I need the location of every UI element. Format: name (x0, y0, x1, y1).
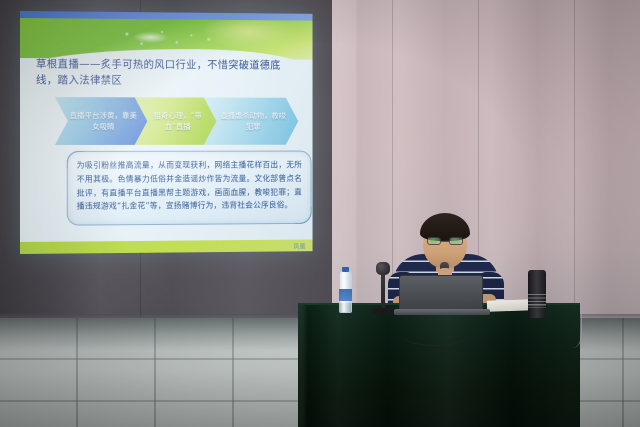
thermos-speaker (528, 270, 546, 318)
slide-title: 草根直播——炙手可热的风口行业，不惜突破道德底线，踏入法律禁区 (36, 56, 299, 89)
chevron-step-2-label: 猎奇心理，“带血”直播 (148, 110, 206, 132)
chevron-step-1-label: 直播平台涉黄，靠美女吸睛 (69, 110, 138, 132)
slide-body-text: 为吸引粉丝推高流量，从而变现获利，网络主播花样百出，无所不用其极。色情暴力低俗并… (77, 158, 302, 213)
laptop-screen (399, 275, 483, 311)
powerpoint-slide: 草根直播——炙手可热的风口行业，不惜突破道德底线，踏入法律禁区 直播平台涉黄，靠… (20, 11, 313, 254)
power-cable (560, 312, 582, 348)
desk-cable (400, 320, 470, 346)
eyeglass-bridge (441, 240, 449, 242)
water-bottle-label (339, 289, 352, 301)
eyeglass-right-lens (449, 237, 463, 245)
conference-room-scene: 草根直播——炙手可热的风口行业，不惜突破道德底线，踏入法律禁区 直播平台涉黄，靠… (0, 0, 640, 427)
eyeglasses-icon (427, 237, 463, 245)
thermos-grip-band (528, 294, 546, 308)
chevron-process-row: 直播平台涉黄，靠美女吸睛 猎奇心理，“带血”直播 直播虐杀动物，教唆犯罪 (68, 97, 311, 145)
water-bottle-cap (342, 267, 349, 272)
wall-seam (392, 0, 393, 320)
slide-body-callout-box: 为吸引粉丝推高流量，从而变现获利，网络主播花样百出，无所不用其极。色情暴力低俗并… (67, 151, 312, 226)
leaf-banner-image (20, 18, 313, 60)
camera-base (372, 308, 394, 314)
chevron-step-3-label: 直播虐杀动物，教唆犯罪 (218, 110, 289, 132)
camera-icon (376, 262, 390, 275)
chevron-step-1: 直播平台涉黄，靠美女吸睛 (55, 97, 148, 145)
water-bottle (339, 267, 352, 313)
wall-seam (574, 0, 575, 320)
eyeglass-left-lens (427, 237, 441, 245)
papers-on-desk (487, 299, 533, 312)
projection-screen: 草根直播——炙手可热的风口行业，不惜突破道德底线，踏入法律禁区 直播平台涉黄，靠… (20, 11, 313, 254)
chevron-step-3: 直播虐杀动物，教唆犯罪 (204, 98, 298, 145)
slide-logo: 凤凰 (293, 241, 305, 250)
laptop-base (394, 309, 490, 315)
